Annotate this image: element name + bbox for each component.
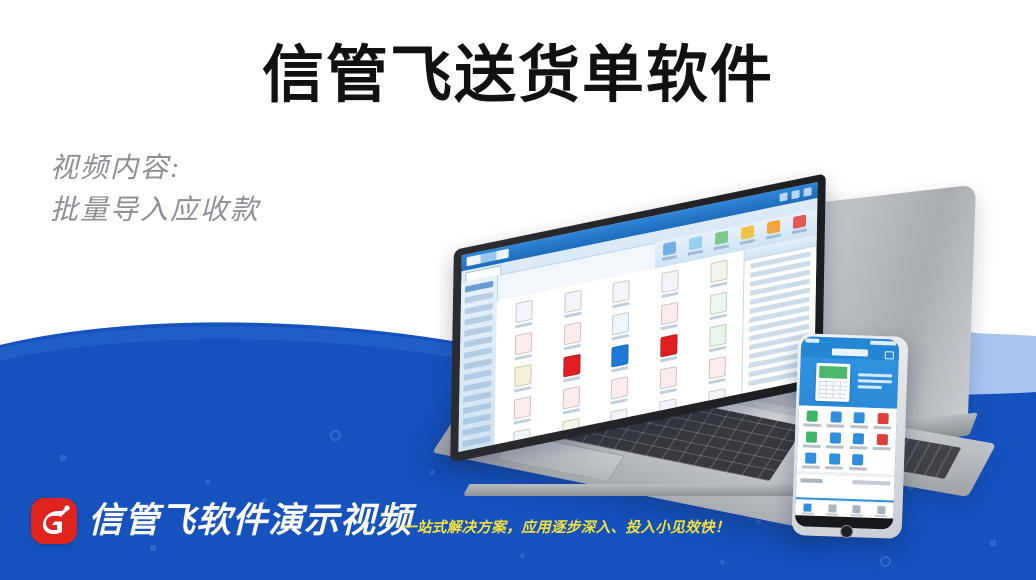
app-icon-tile[interactable]	[648, 299, 691, 333]
toolbar-button[interactable]	[739, 225, 755, 248]
phone-app-title	[832, 348, 868, 356]
phone-grid-item[interactable]	[848, 433, 870, 450]
toolbar-button[interactable]	[791, 214, 807, 237]
app-icon-tile[interactable]	[599, 309, 642, 343]
app-sidebar[interactable]	[458, 275, 498, 452]
sidebar-item[interactable]	[463, 402, 491, 414]
app-icon-tile[interactable]	[550, 351, 593, 385]
toolbar-button[interactable]	[661, 241, 677, 264]
window-maximize-icon[interactable]	[791, 190, 799, 200]
subtitle-line-1: 视频内容:	[50, 148, 260, 190]
subtitle-line-2: 批量导入应收款	[50, 190, 260, 232]
sidebar-item[interactable]	[463, 424, 491, 436]
phone-grid-item[interactable]	[847, 454, 869, 471]
statusbar-left-icons	[805, 338, 819, 342]
sidebar-item[interactable]	[462, 446, 490, 452]
sidebar-item[interactable]	[464, 347, 492, 359]
phone-feature-grid	[797, 405, 897, 474]
phone-menu-icon[interactable]	[885, 351, 894, 359]
window-minimize-icon[interactable]	[779, 192, 787, 202]
app-icon-tile[interactable]	[648, 331, 691, 365]
slide-canvas: 信管飞送货单软件 视频内容: 批量导入应收款	[0, 0, 1036, 580]
brand-bar: 信管飞软件演示视频 一站式解决方案，应用逐步深入、投入小见效快！	[0, 484, 1036, 580]
window-close-icon[interactable]	[803, 187, 811, 197]
sidebar-item[interactable]	[463, 380, 491, 392]
page-title: 信管飞送货单软件	[0, 40, 1036, 112]
app-icon-tile[interactable]	[647, 363, 690, 397]
sidebar-item[interactable]	[464, 358, 492, 370]
phone-hero-banner	[799, 357, 899, 408]
app-icon-tile[interactable]	[697, 257, 740, 291]
sidebar-item[interactable]	[463, 413, 491, 425]
app-icon-tile[interactable]	[551, 319, 594, 353]
sidebar-item[interactable]	[462, 435, 490, 447]
sidebar-item[interactable]	[465, 281, 493, 293]
phone-grid-item[interactable]	[801, 431, 823, 448]
toolbar-button[interactable]	[765, 219, 781, 242]
app-icon-tile[interactable]	[600, 277, 643, 311]
app-icon-tile[interactable]	[599, 341, 642, 375]
sidebar-item[interactable]	[464, 369, 492, 381]
decor-dot	[330, 430, 341, 441]
banner-text-lines	[858, 373, 893, 392]
app-icon-tile[interactable]	[502, 297, 545, 331]
sidebar-item[interactable]	[463, 391, 491, 403]
xinguanfei-bird-logo-icon	[31, 498, 77, 544]
toolbar-button[interactable]	[687, 236, 703, 259]
phone-grid-item[interactable]	[848, 412, 870, 429]
phone-grid-item[interactable]	[800, 452, 822, 469]
phone-grid-item	[870, 455, 892, 472]
statusbar-right-icons	[870, 341, 896, 346]
app-icon-tile[interactable]	[697, 289, 740, 323]
app-icon-tile[interactable]	[501, 393, 544, 427]
phone-grid-item[interactable]	[825, 411, 847, 428]
sidebar-item[interactable]	[464, 336, 492, 348]
brand-name: 信管飞软件演示视频	[88, 498, 412, 544]
phone-grid-item[interactable]	[824, 432, 846, 449]
video-content-subtitle: 视频内容: 批量导入应收款	[50, 148, 260, 232]
toolbar-button[interactable]	[713, 230, 729, 253]
banner-card-illustration	[815, 363, 850, 402]
brand-tagline: 一站式解决方案，应用逐步深入、投入小见效快！	[402, 518, 730, 538]
sidebar-item[interactable]	[465, 303, 493, 315]
app-icon-tile[interactable]	[696, 321, 739, 355]
app-icon-tile[interactable]	[502, 329, 545, 363]
app-icon-tile[interactable]	[549, 383, 592, 417]
device-mockup-group	[430, 190, 1036, 530]
phone-grid-item[interactable]	[871, 434, 893, 451]
sidebar-item[interactable]	[465, 314, 493, 326]
phone-grid-item[interactable]	[872, 413, 894, 430]
app-icon-tile[interactable]	[598, 373, 641, 407]
phone-grid-item[interactable]	[823, 453, 845, 470]
phone-grid-item[interactable]	[801, 410, 823, 427]
app-icon-tile[interactable]	[551, 287, 594, 321]
app-icon-tile[interactable]	[696, 353, 739, 387]
sidebar-item[interactable]	[465, 292, 493, 304]
app-icon-tile[interactable]	[649, 267, 692, 301]
sidebar-item[interactable]	[464, 325, 492, 337]
app-icon-tile[interactable]	[501, 361, 544, 395]
decor-dot	[60, 455, 66, 461]
